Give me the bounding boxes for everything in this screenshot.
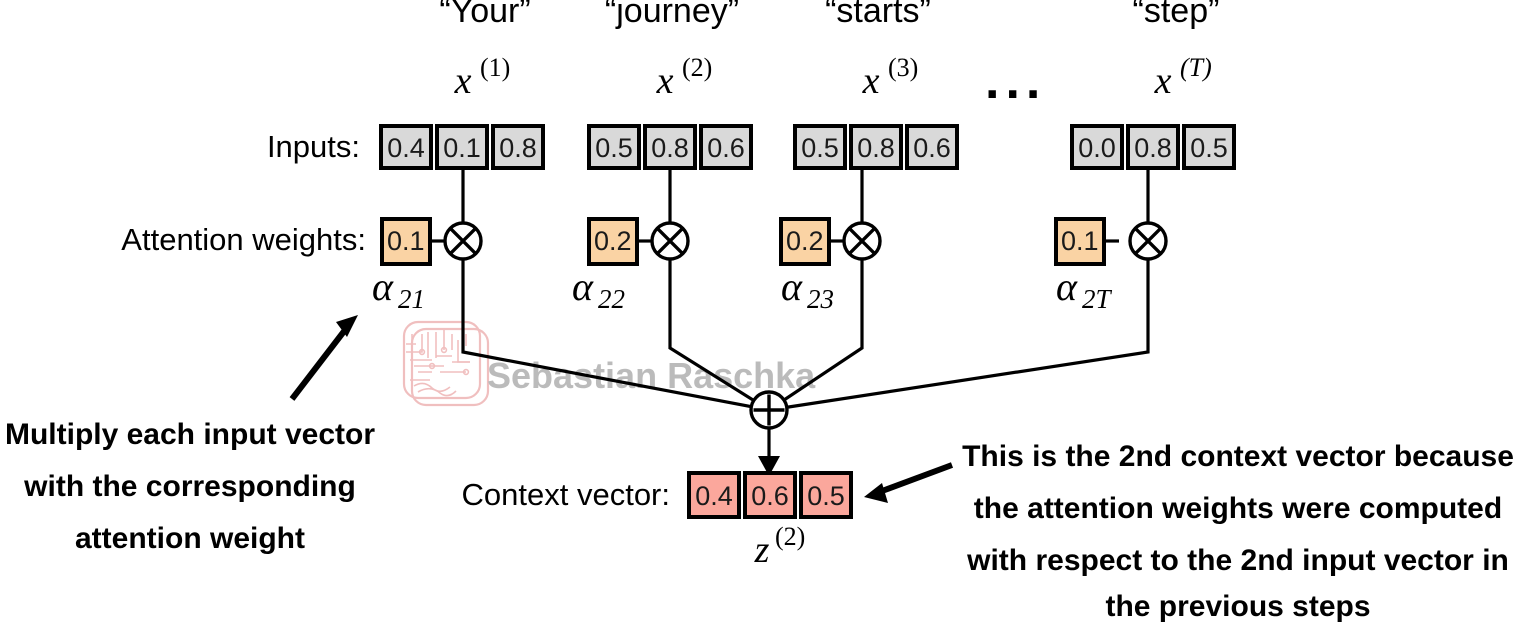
label-inputs: Inputs: bbox=[267, 129, 360, 164]
svg-text:(1): (1) bbox=[480, 53, 510, 82]
svg-text:0.8: 0.8 bbox=[651, 133, 689, 163]
watermark-text: Sebastian Raschka bbox=[487, 355, 816, 396]
svg-text:0.8: 0.8 bbox=[1134, 133, 1172, 163]
svg-text:0.6: 0.6 bbox=[707, 133, 745, 163]
svg-text:0.5: 0.5 bbox=[595, 133, 633, 163]
svg-text:α: α bbox=[372, 264, 394, 309]
multiply-node-2 bbox=[652, 223, 688, 259]
svg-text:x: x bbox=[656, 60, 674, 102]
x-symbol-1: x (1) bbox=[454, 53, 511, 102]
attention-diagram-figure: Sebastian Raschka “Your” x (1) 0.4 0.1 0… bbox=[0, 0, 1525, 630]
annotation-right: This is the 2nd context vector because t… bbox=[962, 440, 1514, 623]
svg-text:2T: 2T bbox=[1082, 284, 1113, 314]
svg-text:0.0: 0.0 bbox=[1078, 133, 1116, 163]
arrow-sum-to-context bbox=[758, 428, 780, 476]
word-label-2: “journey” bbox=[605, 0, 739, 30]
svg-text:0.6: 0.6 bbox=[751, 481, 789, 511]
svg-text:α: α bbox=[1056, 264, 1078, 309]
label-attention-weights: Attention weights: bbox=[121, 222, 366, 257]
svg-text:x: x bbox=[454, 60, 472, 102]
svg-text:Multiply each input vector: Multiply each input vector bbox=[5, 418, 375, 451]
multiply-node-4 bbox=[1130, 223, 1166, 259]
svg-text:attention weight: attention weight bbox=[75, 522, 305, 555]
watermark: Sebastian Raschka bbox=[404, 322, 816, 405]
attention-weight-4: 0.1 bbox=[1056, 219, 1104, 264]
annotation-left: Multiply each input vector with the corr… bbox=[5, 418, 375, 555]
svg-text:(T): (T) bbox=[1180, 53, 1212, 82]
svg-text:0.8: 0.8 bbox=[857, 133, 895, 163]
svg-text:x: x bbox=[1154, 60, 1172, 102]
alpha-label-4: α 2T bbox=[1056, 264, 1113, 314]
svg-text:the previous steps: the previous steps bbox=[1105, 590, 1370, 623]
annotation-arrow-left bbox=[292, 315, 358, 399]
svg-text:0.5: 0.5 bbox=[801, 133, 839, 163]
svg-text:0.8: 0.8 bbox=[499, 133, 537, 163]
attention-weight-3: 0.2 bbox=[781, 219, 829, 264]
svg-text:(3): (3) bbox=[888, 53, 918, 82]
circuit-board-logo-icon bbox=[404, 322, 488, 405]
svg-text:α: α bbox=[781, 264, 803, 309]
input-vector-2: 0.5 0.8 0.6 bbox=[589, 126, 751, 168]
svg-text:z: z bbox=[754, 529, 770, 571]
svg-text:23: 23 bbox=[807, 284, 834, 314]
svg-text:0.5: 0.5 bbox=[1190, 133, 1228, 163]
svg-text:0.4: 0.4 bbox=[695, 481, 733, 511]
svg-text:21: 21 bbox=[398, 284, 425, 314]
input-vector-4: 0.0 0.8 0.5 bbox=[1072, 126, 1234, 168]
svg-text:α: α bbox=[572, 264, 594, 309]
alpha-label-1: α 21 bbox=[372, 264, 425, 314]
svg-text:0.2: 0.2 bbox=[786, 226, 824, 256]
label-context-vector: Context vector: bbox=[462, 477, 670, 512]
x-symbol-4: x (T) bbox=[1154, 53, 1212, 102]
attention-weight-2: 0.2 bbox=[589, 219, 637, 264]
svg-text:22: 22 bbox=[598, 284, 625, 314]
word-label-1: “Your” bbox=[439, 0, 530, 30]
alpha-label-3: α 23 bbox=[781, 264, 834, 314]
multiply-node-1 bbox=[445, 223, 481, 259]
attention-weight-1: 0.1 bbox=[382, 219, 430, 264]
z-symbol: z (2) bbox=[754, 522, 806, 571]
wire-multiply-to-sum-4 bbox=[769, 259, 1148, 410]
svg-text:(2): (2) bbox=[775, 522, 805, 551]
svg-text:the attention weights were com: the attention weights were computed bbox=[974, 492, 1502, 525]
alpha-label-2: α 22 bbox=[572, 264, 625, 314]
svg-text:0.2: 0.2 bbox=[594, 226, 632, 256]
multiply-node-3 bbox=[844, 223, 880, 259]
svg-text:0.4: 0.4 bbox=[387, 133, 425, 163]
svg-text:This is the 2nd context vector: This is the 2nd context vector because bbox=[962, 440, 1514, 473]
svg-text:x: x bbox=[862, 60, 880, 102]
svg-text:0.1: 0.1 bbox=[387, 226, 425, 256]
svg-text:with respect to the 2nd input: with respect to the 2nd input vector in bbox=[966, 544, 1509, 577]
ellipsis-dots: ... bbox=[985, 52, 1046, 110]
svg-text:0.1: 0.1 bbox=[1061, 226, 1099, 256]
annotation-arrow-right bbox=[864, 465, 952, 503]
x-symbol-2: x (2) bbox=[656, 53, 713, 102]
word-label-4: “step” bbox=[1133, 0, 1220, 30]
input-vector-3: 0.5 0.8 0.6 bbox=[795, 126, 957, 168]
svg-text:0.6: 0.6 bbox=[913, 133, 951, 163]
word-label-3: “starts” bbox=[825, 0, 931, 30]
svg-text:with the corresponding: with the corresponding bbox=[23, 470, 356, 503]
context-vector: 0.4 0.6 0.5 bbox=[689, 473, 851, 517]
sum-node bbox=[751, 392, 787, 428]
svg-text:(2): (2) bbox=[682, 53, 712, 82]
svg-text:0.1: 0.1 bbox=[443, 133, 481, 163]
x-symbol-3: x (3) bbox=[862, 53, 919, 102]
svg-text:0.5: 0.5 bbox=[807, 481, 845, 511]
input-vector-1: 0.4 0.1 0.8 bbox=[381, 126, 543, 168]
column-2: “journey” x (2) 0.5 0.8 0.6 0.2 bbox=[572, 0, 769, 410]
column-3: “starts” x (3) 0.5 0.8 0.6 0.2 bbox=[769, 0, 957, 410]
